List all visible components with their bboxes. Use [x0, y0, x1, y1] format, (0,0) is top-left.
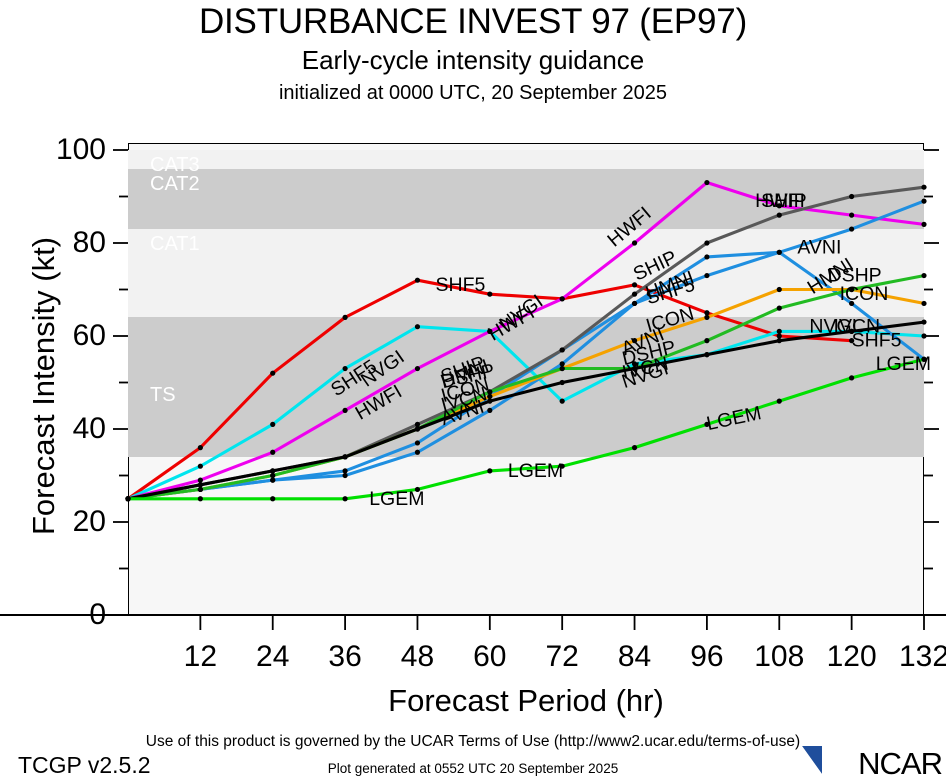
band-cat2: [128, 169, 924, 229]
page-title: DISTURBANCE INVEST 97 (EP97): [0, 2, 946, 42]
band-ts: [128, 317, 924, 457]
y-tick-label: 0: [89, 598, 106, 632]
x-tick-label: 108: [754, 640, 804, 674]
y-axis-title: Forecast Intensity (kt): [26, 156, 62, 616]
band-cat1: [128, 229, 924, 317]
band-cat3: [128, 150, 924, 169]
x-tick-label: 84: [618, 640, 651, 674]
y-tick-label: 20: [73, 505, 106, 539]
plot-area: TSCAT1CAT2CAT3: [128, 143, 924, 615]
x-tick-label: 48: [401, 640, 434, 674]
x-tick-label: 36: [328, 640, 361, 674]
x-tick-label: 12: [184, 640, 217, 674]
x-tick-label: 60: [473, 640, 506, 674]
x-tick-label: 24: [256, 640, 289, 674]
page-subtitle: Early-cycle intensity guidance: [0, 45, 946, 76]
initialization-time: initialized at 0000 UTC, 20 September 20…: [0, 82, 946, 105]
x-axis-title: Forecast Period (hr): [128, 683, 924, 719]
intensity-guidance-plot: DISTURBANCE INVEST 97 (EP97) Early-cycle…: [0, 0, 946, 780]
x-tick-label: 120: [827, 640, 877, 674]
ncar-logo-text: NCAR: [858, 746, 942, 782]
y-tick-label: 40: [73, 412, 106, 446]
y-tick-label: 100: [56, 133, 106, 167]
x-tick-label: 96: [690, 640, 723, 674]
version-label: TCGP v2.5.2: [18, 752, 151, 779]
x-tick-label: 72: [545, 640, 578, 674]
y-tick-label: 80: [73, 226, 106, 260]
y-tick-label: 60: [73, 319, 106, 353]
x-tick-label: 132: [899, 640, 946, 674]
